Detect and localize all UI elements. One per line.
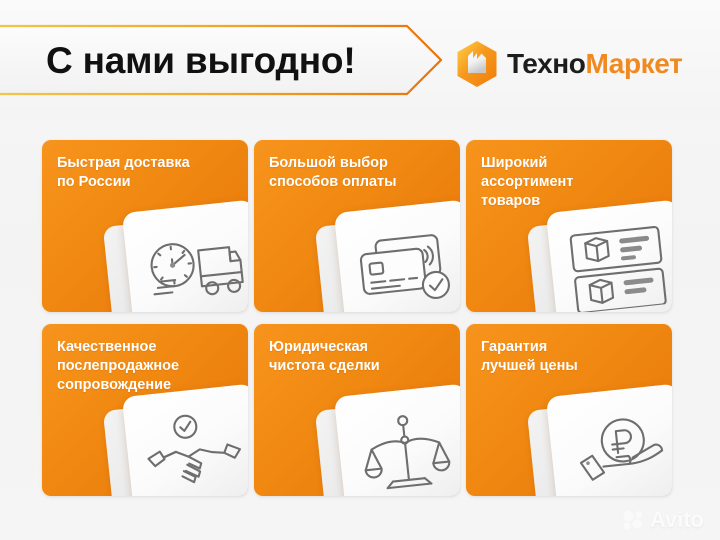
card-title: Большой выбор способов оплаты: [269, 154, 448, 192]
tile-front: [122, 199, 248, 312]
handshake-check-icon: [138, 407, 248, 496]
logo-text-orange: Маркет: [586, 48, 683, 79]
clock-truck-icon: [137, 227, 248, 310]
benefits-grid: Быстрая доставка по России: [42, 140, 672, 496]
card-title: Юридическая чистота сделки: [269, 338, 448, 376]
logo-text-dark: Техно: [507, 48, 586, 79]
scales-of-justice-icon: [356, 405, 456, 496]
logo-wordmark: ТехноМаркет: [507, 40, 682, 88]
card-title: Качественное послепродажное сопровождени…: [57, 338, 236, 395]
benefit-card-aftersales[interactable]: Качественное послепродажное сопровождени…: [42, 324, 248, 496]
hexagon-building-icon: [455, 40, 499, 88]
page-title: С нами выгодно!: [46, 36, 386, 86]
header: С нами выгодно!: [0, 0, 720, 120]
tile-front: [334, 383, 460, 496]
hand-ruble-coin-icon: [562, 410, 672, 494]
promo-banner: С нами выгодно!: [0, 0, 720, 540]
tile-front: [122, 383, 248, 496]
tile-front: [546, 383, 672, 496]
icon-tile: [326, 206, 460, 312]
benefit-card-assortment[interactable]: Широкий ассортимент товаров: [466, 140, 672, 312]
card-title: Быстрая доставка по России: [57, 154, 236, 192]
product-list-boxes-icon: [564, 222, 672, 312]
benefit-card-bestprice[interactable]: Гарантия лучшей цены: [466, 324, 672, 496]
tile-front: [546, 199, 672, 312]
benefit-card-delivery[interactable]: Быстрая доставка по России: [42, 140, 248, 312]
icon-tile: [538, 390, 672, 496]
icon-tile: [538, 206, 672, 312]
benefit-card-legal[interactable]: Юридическая чистота сделки: [254, 324, 460, 496]
technomarket-logo[interactable]: ТехноМаркет: [455, 40, 682, 88]
avito-dots-icon: [623, 510, 645, 530]
avito-watermark-text: Avito: [650, 510, 704, 530]
icon-tile: [114, 390, 248, 496]
icon-tile: [326, 390, 460, 496]
card-title: Широкий ассортимент товаров: [481, 154, 660, 211]
tile-front: [334, 199, 460, 312]
card-title: Гарантия лучшей цены: [481, 338, 660, 376]
benefit-card-payment[interactable]: Большой выбор способов оплаты: [254, 140, 460, 312]
credit-cards-check-icon: [350, 225, 460, 311]
icon-tile: [114, 206, 248, 312]
avito-watermark: Avito: [623, 510, 704, 530]
